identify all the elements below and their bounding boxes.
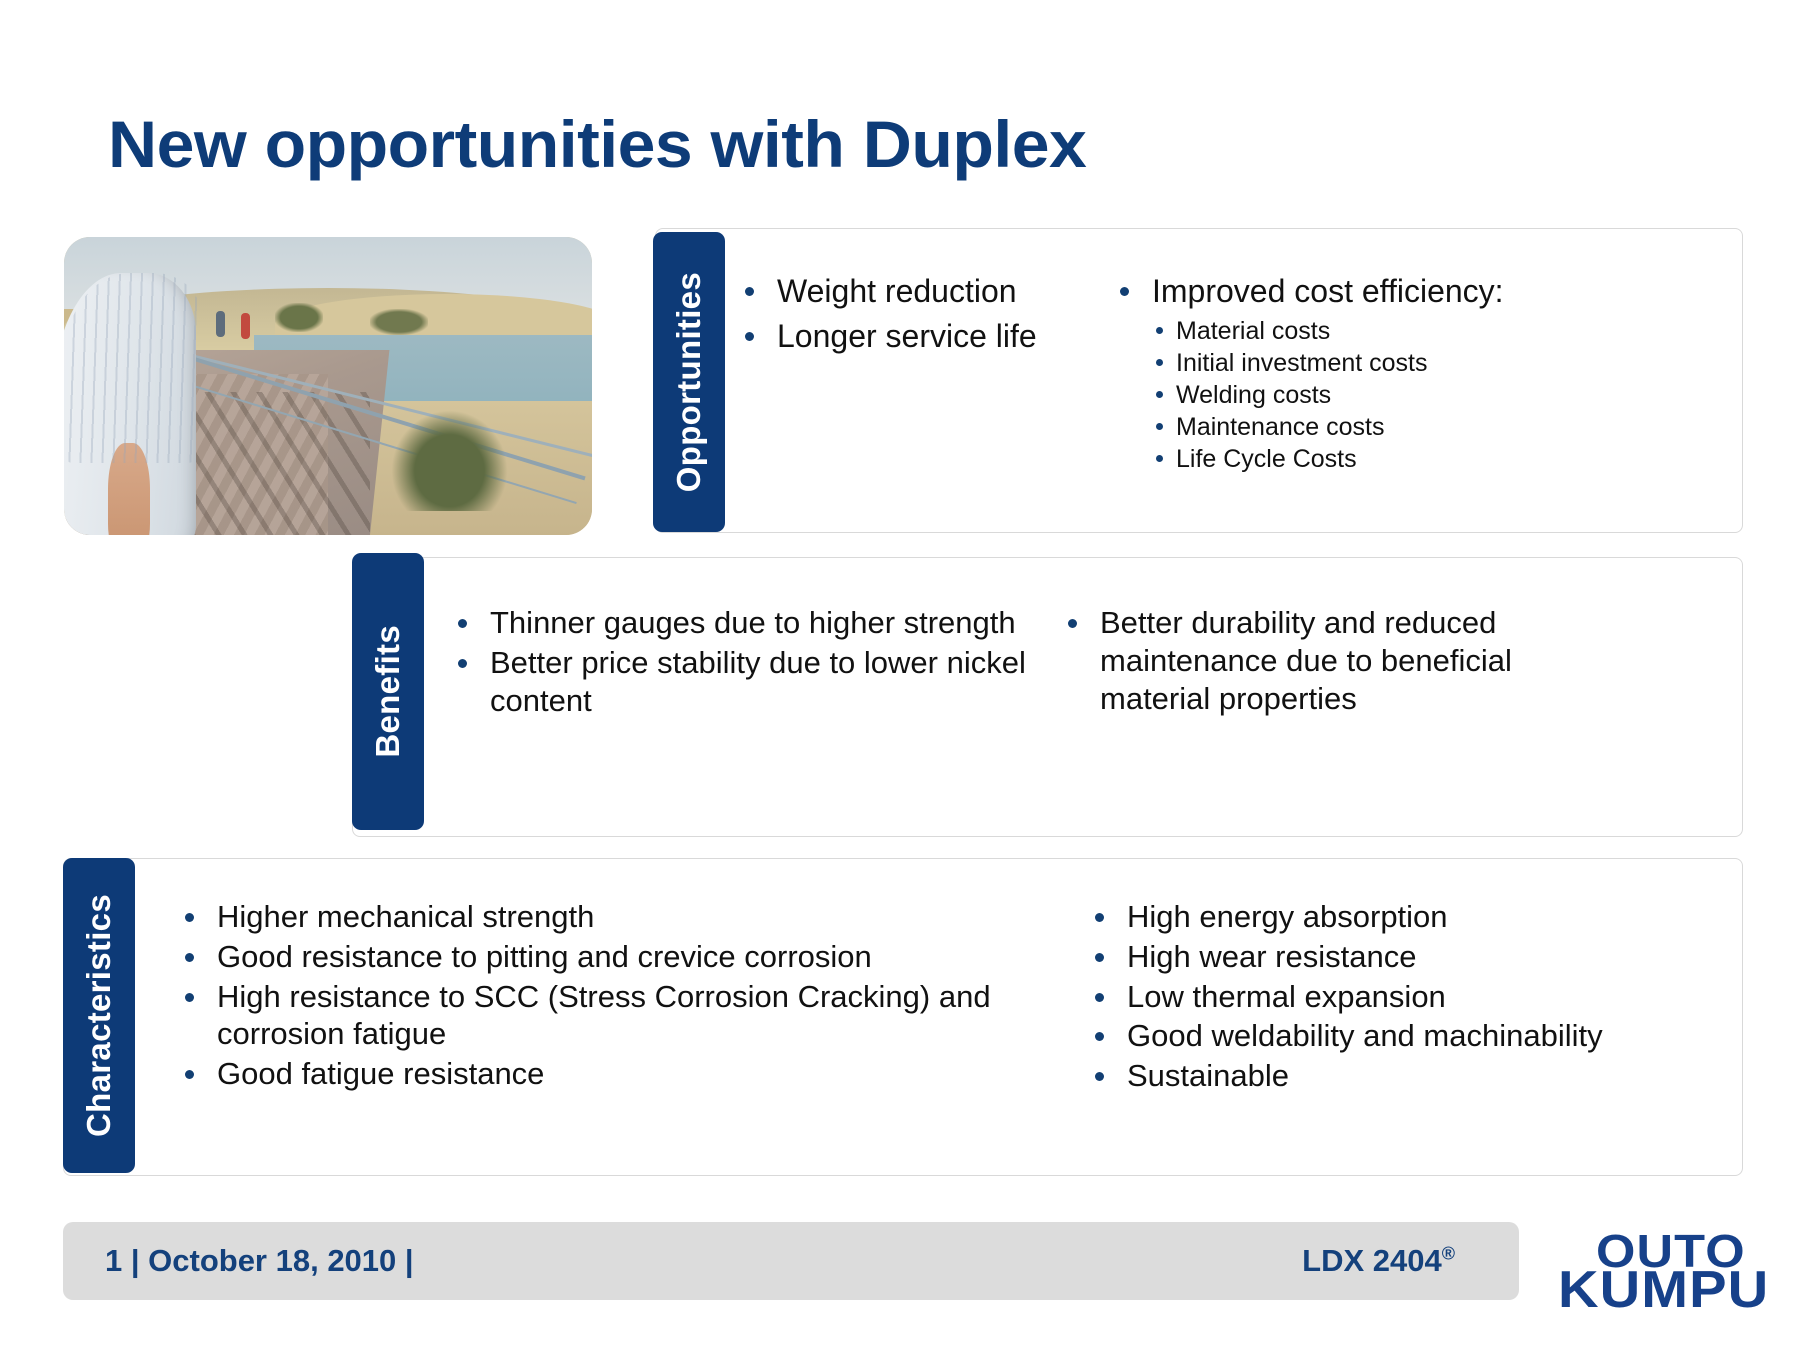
benefits-column-2: Better durability and reduced maintenanc…	[1058, 604, 1618, 824]
bullet-list: Higher mechanical strength Good resistan…	[175, 898, 1085, 1093]
list-item: High resistance to SCC (Stress Corrosion…	[175, 978, 1085, 1054]
outokumpu-logo: OUTO KUMPU	[1558, 1228, 1778, 1328]
list-item: Sustainable	[1085, 1057, 1685, 1095]
bullet-text: High wear resistance	[1127, 938, 1685, 976]
characteristics-content: Higher mechanical strength Good resistan…	[175, 898, 1715, 1158]
bullet-text: Good weldability and machinability	[1127, 1017, 1685, 1055]
photo-walker	[241, 313, 250, 339]
section-tab-opportunities: Opportunities	[653, 232, 725, 532]
list-item: Good resistance to pitting and crevice c…	[175, 938, 1085, 976]
section-tab-characteristics: Characteristics	[63, 858, 135, 1173]
bullet-text: High resistance to SCC (Stress Corrosion…	[217, 978, 1085, 1054]
bullet-text: High energy absorption	[1127, 898, 1685, 936]
bullet-text: Low thermal expansion	[1127, 978, 1685, 1016]
bullet-list: Improved cost efficiency: Material costs…	[1110, 272, 1730, 475]
photo-walker	[216, 311, 225, 337]
bullet-text: Improved cost efficiency:	[1152, 272, 1730, 311]
benefits-column-1: Thinner gauges due to higher strength Be…	[448, 604, 1058, 824]
list-item: Higher mechanical strength	[175, 898, 1085, 936]
opportunities-content: Weight reduction Longer service life Imp…	[735, 272, 1735, 522]
footer-slide-date: 1 | October 18, 2010 |	[105, 1243, 414, 1279]
bullet-text: Sustainable	[1127, 1057, 1685, 1095]
photo-bush	[391, 410, 507, 511]
promenade-photo	[64, 237, 592, 535]
section-tab-label: Benefits	[369, 625, 407, 758]
bullet-list: Better durability and reduced maintenanc…	[1058, 604, 1618, 717]
list-item: Thinner gauges due to higher strength	[448, 604, 1058, 642]
section-tab-benefits: Benefits	[352, 553, 424, 830]
opportunities-column-1: Weight reduction Longer service life	[735, 272, 1110, 522]
sub-list-item: Maintenance costs	[1152, 411, 1730, 443]
registered-mark-icon: ®	[1442, 1244, 1455, 1264]
slide-canvas: New opportunities with Duplex Opportunit…	[0, 0, 1800, 1350]
list-item: Good weldability and machinability	[1085, 1017, 1685, 1055]
list-item: Good fatigue resistance	[175, 1055, 1085, 1093]
section-tab-label: Opportunities	[670, 272, 708, 492]
photo-shirt-stripes	[64, 273, 201, 464]
page-title: New opportunities with Duplex	[108, 106, 1086, 182]
list-item: Better durability and reduced maintenanc…	[1058, 604, 1618, 717]
benefits-content: Thinner gauges due to higher strength Be…	[448, 604, 1728, 824]
opportunities-column-2: Improved cost efficiency: Material costs…	[1110, 272, 1730, 522]
bullet-text: Thinner gauges due to higher strength	[490, 604, 1058, 642]
bullet-list: High energy absorption High wear resista…	[1085, 898, 1685, 1095]
logo-line-2: KUMPU	[1558, 1264, 1769, 1316]
characteristics-column-1: Higher mechanical strength Good resistan…	[175, 898, 1085, 1158]
list-item: Weight reduction	[735, 272, 1110, 311]
bullet-text: Better durability and reduced maintenanc…	[1100, 604, 1618, 717]
bullet-text: Good fatigue resistance	[217, 1055, 1085, 1093]
sub-list-item: Welding costs	[1152, 379, 1730, 411]
footer-product-name: LDX 2404®	[1302, 1243, 1455, 1279]
bullet-text: Better price stability due to lower nick…	[490, 644, 1058, 720]
bullet-text: Higher mechanical strength	[217, 898, 1085, 936]
list-item: Better price stability due to lower nick…	[448, 644, 1058, 720]
list-item: Low thermal expansion	[1085, 978, 1685, 1016]
sub-bullet-list: Material costs Initial investment costs …	[1152, 315, 1730, 475]
bullet-text: Longer service life	[777, 317, 1110, 356]
characteristics-column-2: High energy absorption High wear resista…	[1085, 898, 1685, 1158]
sub-list-item: Material costs	[1152, 315, 1730, 347]
list-item: Improved cost efficiency: Material costs…	[1110, 272, 1730, 475]
section-tab-label: Characteristics	[80, 894, 118, 1137]
sub-list-item: Life Cycle Costs	[1152, 443, 1730, 475]
photo-bush-far-right	[370, 309, 428, 336]
list-item: High energy absorption	[1085, 898, 1685, 936]
bullet-text: Good resistance to pitting and crevice c…	[217, 938, 1085, 976]
list-item: Longer service life	[735, 317, 1110, 356]
bullet-list: Thinner gauges due to higher strength Be…	[448, 604, 1058, 719]
bullet-list: Weight reduction Longer service life	[735, 272, 1110, 356]
sub-list-item: Initial investment costs	[1152, 347, 1730, 379]
product-label: LDX 2404	[1302, 1243, 1442, 1278]
list-item: High wear resistance	[1085, 938, 1685, 976]
bullet-text: Weight reduction	[777, 272, 1110, 311]
